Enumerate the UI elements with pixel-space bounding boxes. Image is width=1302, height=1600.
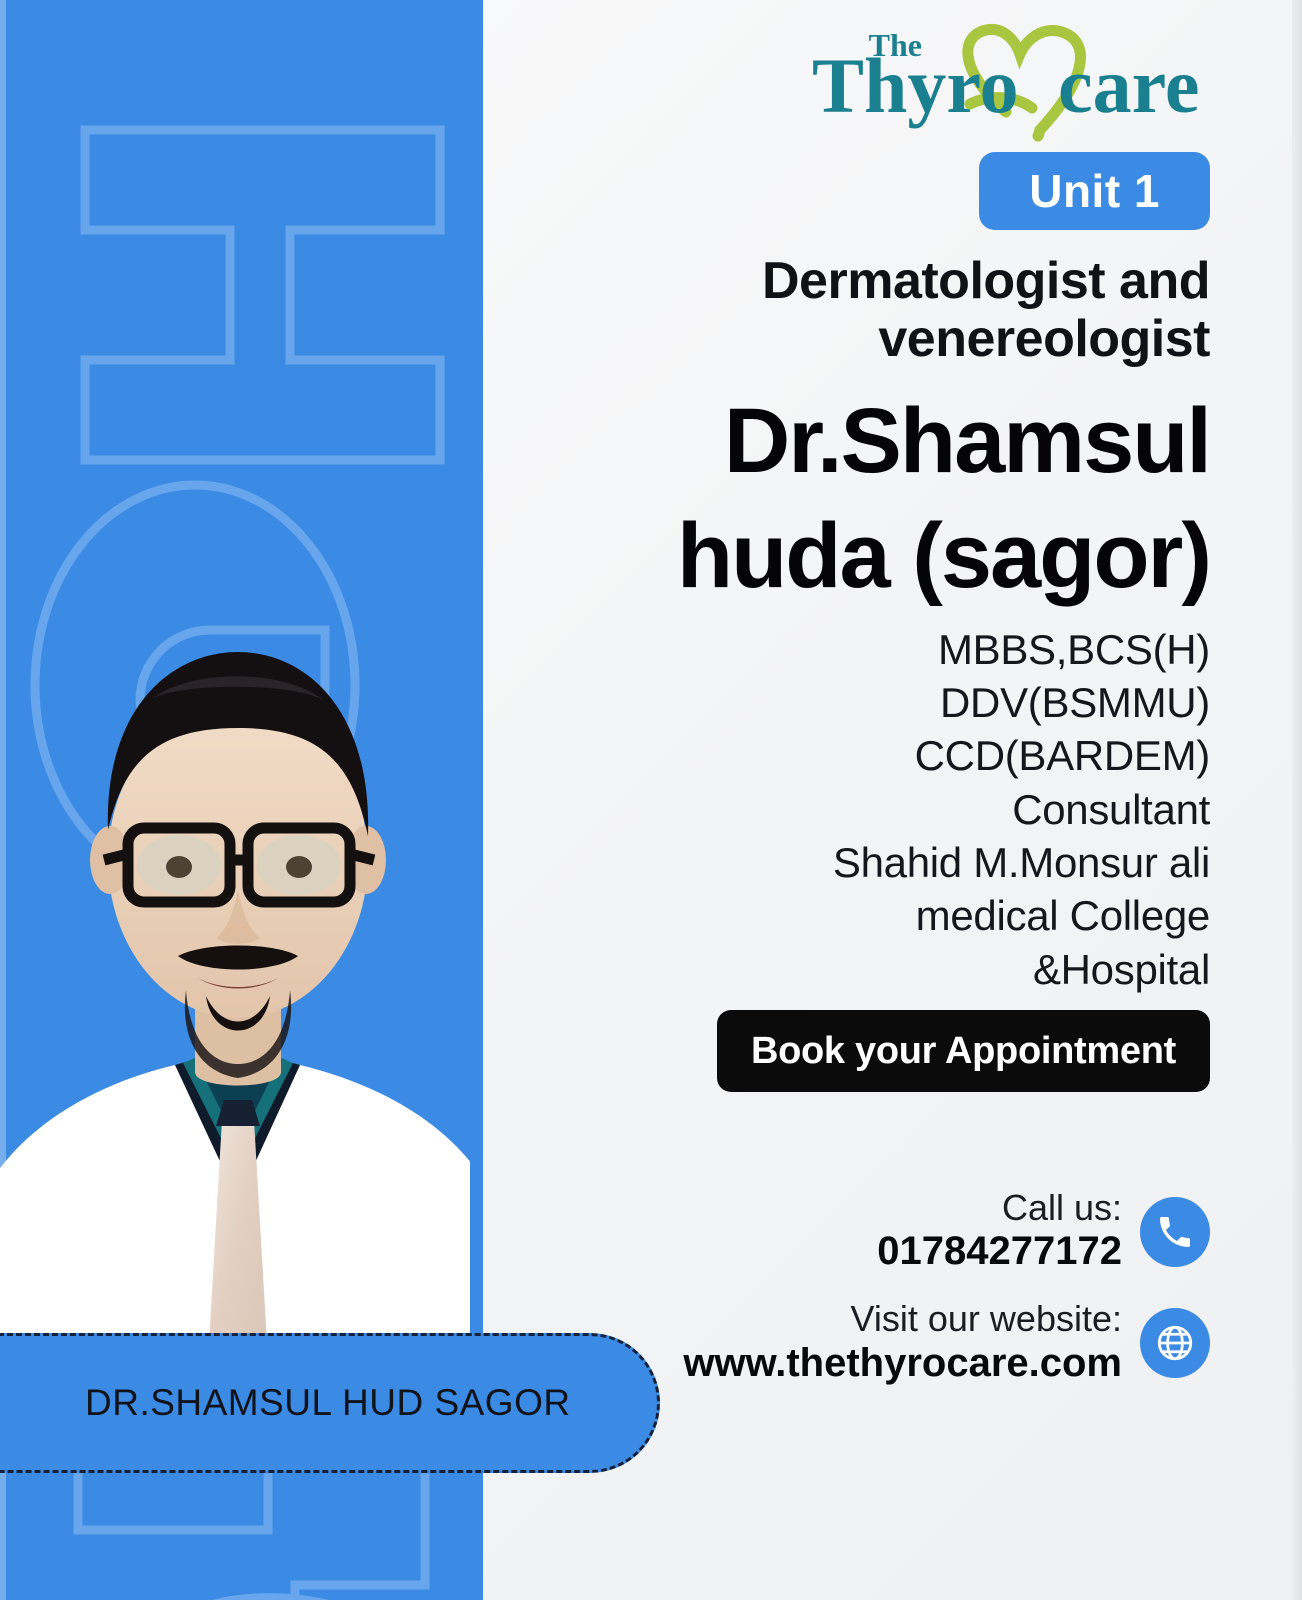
- website-contact-row[interactable]: Visit our website: www.thethyrocare.com: [510, 1299, 1210, 1387]
- website-label: Visit our website:: [683, 1299, 1122, 1339]
- banner-name-text: DR.SHAMSUL HUD SAGOR: [85, 1382, 571, 1424]
- poster-canvas: DR.SHAMSUL HUD SAGOR The Thyro care Unit…: [0, 0, 1302, 1600]
- poster-right-edge: [1292, 0, 1302, 1600]
- content-column: The Thyro care Unit 1 Dermatologist and …: [500, 0, 1302, 1600]
- svg-text:care: care: [1058, 42, 1199, 129]
- credentials-list: MBBS,BCS(H) DDV(BSMMU) CCD(BARDEM) Consu…: [510, 623, 1210, 996]
- unit-badge[interactable]: Unit 1: [979, 152, 1210, 230]
- specialty-heading: Dermatologist and venereologist: [510, 252, 1210, 368]
- credential-item: MBBS,BCS(H): [510, 623, 1210, 676]
- brand-logo-svg: The Thyro care: [810, 20, 1210, 142]
- credential-item: &Hospital: [510, 943, 1210, 996]
- doctor-name-heading: Dr.Shamsul huda (sagor): [510, 384, 1210, 612]
- phone-contact-row[interactable]: Call us: 01784277172: [510, 1188, 1210, 1276]
- credential-item: CCD(BARDEM): [510, 729, 1210, 782]
- brand-logo: The Thyro care: [510, 18, 1210, 146]
- phone-label: Call us:: [877, 1188, 1122, 1228]
- phone-icon[interactable]: [1140, 1197, 1210, 1267]
- credential-item: medical College: [510, 889, 1210, 942]
- contact-block: Call us: 01784277172 Visit our website: …: [510, 1188, 1210, 1387]
- phone-number: 01784277172: [877, 1228, 1122, 1275]
- badge-row: Unit 1: [510, 152, 1210, 230]
- doctor-photo: [0, 560, 470, 1360]
- svg-text:Thyro: Thyro: [812, 42, 1019, 129]
- credential-item: Consultant: [510, 783, 1210, 836]
- cta-row: Book your Appointment: [510, 1010, 1210, 1092]
- watermark-letter-top: [40, 110, 460, 530]
- book-appointment-button[interactable]: Book your Appointment: [717, 1010, 1210, 1092]
- credential-item: Shahid M.Monsur ali: [510, 836, 1210, 889]
- globe-icon[interactable]: [1140, 1308, 1210, 1378]
- doctor-name-line-1: Dr.Shamsul: [510, 384, 1210, 498]
- credential-item: DDV(BSMMU): [510, 676, 1210, 729]
- specialty-line-2: venereologist: [510, 310, 1210, 368]
- phone-text-group: Call us: 01784277172: [877, 1188, 1122, 1276]
- doctor-name-line-2: huda (sagor): [510, 499, 1210, 613]
- website-url: www.thethyrocare.com: [683, 1340, 1122, 1387]
- website-text-group: Visit our website: www.thethyrocare.com: [683, 1299, 1122, 1387]
- specialty-line-1: Dermatologist and: [510, 252, 1210, 310]
